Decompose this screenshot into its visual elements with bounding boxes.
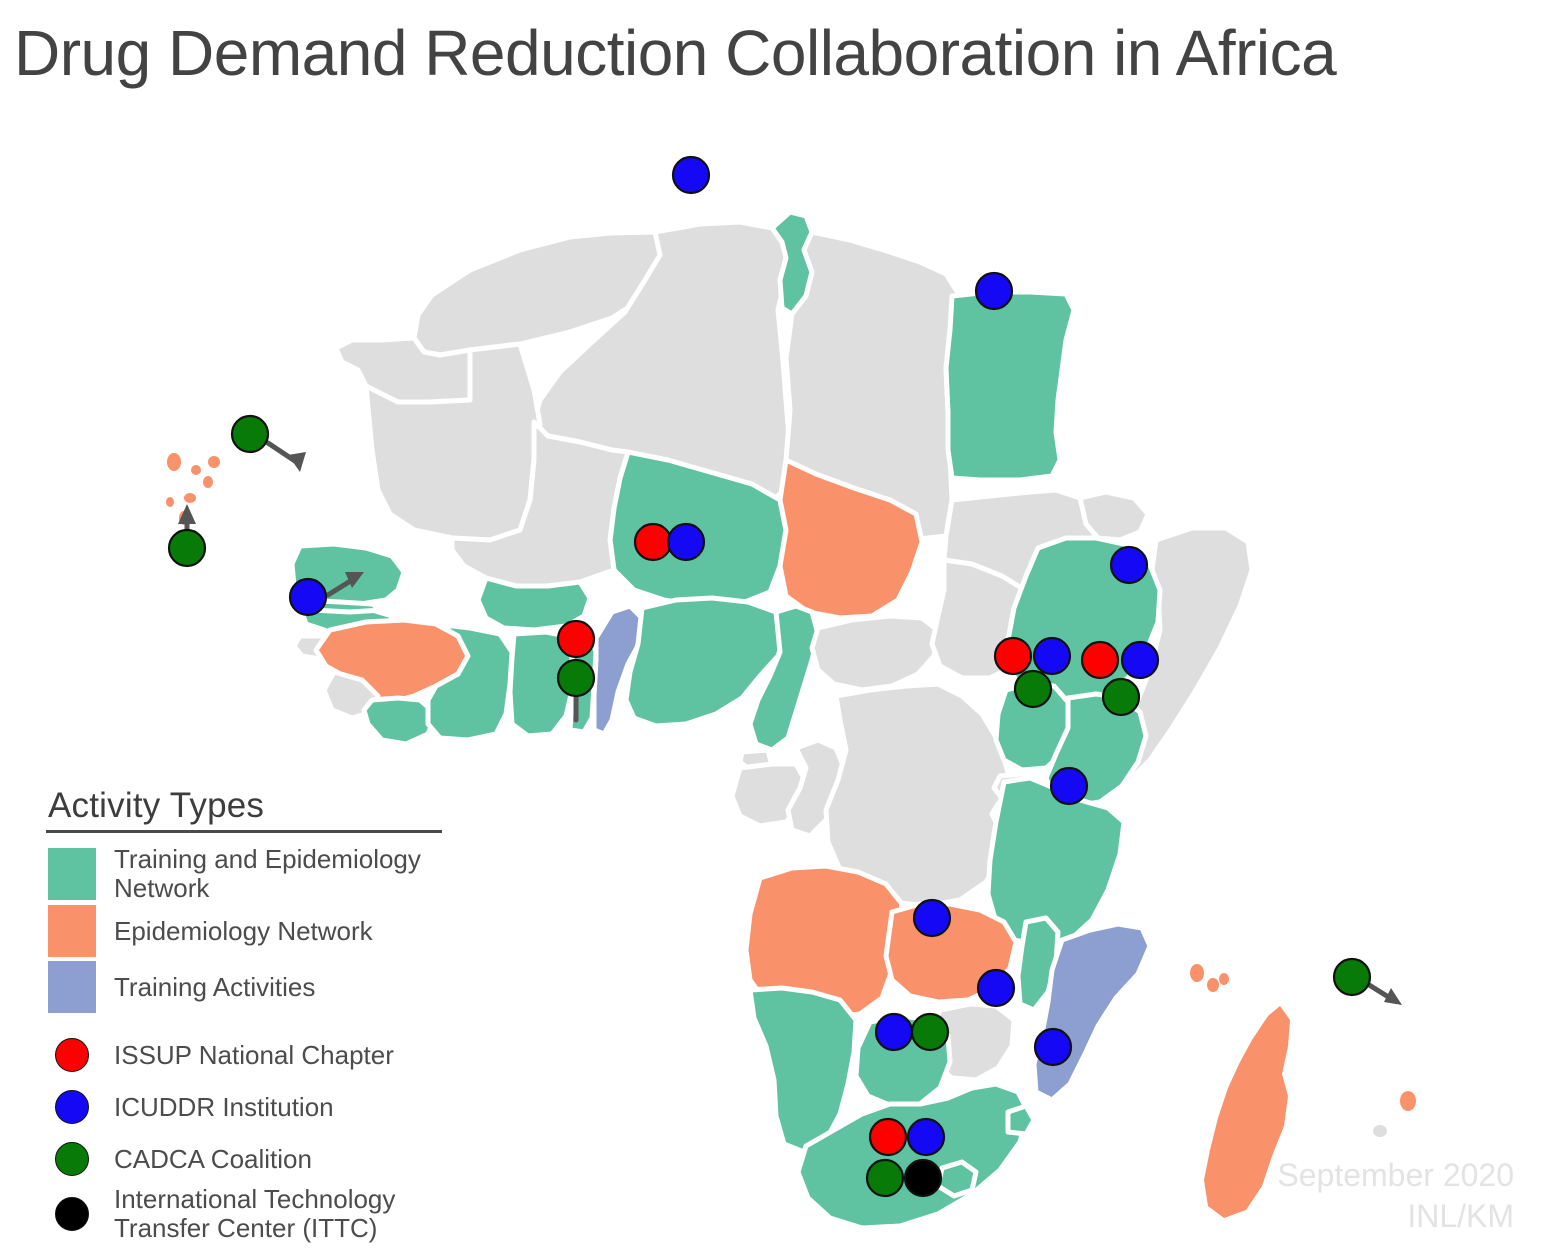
legend-label-cadca-coalition: CADCA Coalition xyxy=(114,1145,312,1174)
country-lesotho[interactable] xyxy=(938,1162,976,1196)
marker-cadca-senegal[interactable] xyxy=(232,416,268,452)
marker-icuddr-sierra-leone[interactable] xyxy=(290,579,326,615)
island-mauritius[interactable] xyxy=(1400,1091,1416,1111)
islands-comoros[interactable] xyxy=(1190,964,1229,992)
watermark-org: INL/KM xyxy=(1277,1196,1514,1236)
country-tanzania[interactable] xyxy=(988,778,1124,946)
marker-icuddr-botswana[interactable] xyxy=(876,1014,912,1050)
legend-label-epidemiology-network: Epidemiology Network xyxy=(114,917,373,946)
marker-cadca-south-africa[interactable] xyxy=(867,1160,903,1196)
marker-cadca-cabo-verde[interactable] xyxy=(169,530,205,566)
marker-icuddr-nigeria[interactable] xyxy=(668,524,704,560)
marker-icuddr-uganda[interactable] xyxy=(1034,638,1070,674)
legend-dot-black-wrap xyxy=(48,1197,96,1231)
marker-icuddr-ethiopia[interactable] xyxy=(1111,547,1147,583)
marker-icuddr-south-africa[interactable] xyxy=(908,1119,944,1155)
icuddr-marker-icon xyxy=(55,1090,89,1124)
marker-icuddr-tanzania[interactable] xyxy=(1051,768,1087,804)
legend-swatch-teal xyxy=(48,848,96,900)
marker-cadca-mauritius[interactable] xyxy=(1334,959,1370,995)
issup-marker-icon xyxy=(55,1038,89,1072)
marker-icuddr-zimbabwe[interactable] xyxy=(978,970,1014,1006)
marker-cadca-uganda[interactable] xyxy=(1015,671,1051,707)
marker-issup-nigeria[interactable] xyxy=(635,524,671,560)
legend-item-epidemiology-network[interactable]: Epidemiology Network xyxy=(40,903,460,959)
marker-issup-south-africa[interactable] xyxy=(870,1119,906,1155)
marker-icuddr-tunisia[interactable] xyxy=(673,157,709,193)
country-central-african-republic[interactable] xyxy=(812,616,940,690)
marker-issup-benin[interactable] xyxy=(558,621,594,657)
pointer-mauritius xyxy=(1366,983,1402,1005)
watermark-date: September 2020 xyxy=(1277,1155,1514,1195)
marker-cadca-botswana[interactable] xyxy=(912,1014,948,1050)
ittc-marker-icon xyxy=(55,1197,89,1231)
legend-dot-red-wrap xyxy=(48,1038,96,1072)
legend-swatch-orange xyxy=(48,905,96,957)
island-reunion[interactable] xyxy=(1373,1125,1387,1137)
country-liberia[interactable] xyxy=(364,698,436,744)
legend-dot-green-wrap xyxy=(48,1142,96,1176)
legend-label-issup-national-chapter: ISSUP National Chapter xyxy=(114,1041,394,1070)
legend-dot-blue-wrap xyxy=(48,1090,96,1124)
marker-icuddr-mozambique[interactable] xyxy=(1035,1029,1071,1065)
marker-icuddr-zambia[interactable] xyxy=(914,900,950,936)
marker-cadca-benin[interactable] xyxy=(558,660,594,696)
watermark: September 2020 INL/KM xyxy=(1277,1155,1514,1236)
legend-heading: Activity Types xyxy=(40,786,460,830)
legend-label-training-and-epidemiology-network: Training and Epidemiology Network xyxy=(114,845,460,903)
legend-item-cadca-coalition[interactable]: CADCA Coalition xyxy=(40,1133,460,1185)
legend-label-training-activities: Training Activities xyxy=(114,973,315,1002)
legend: Activity Types Training and Epidemiology… xyxy=(40,786,460,1243)
marker-issup-uganda[interactable] xyxy=(995,638,1031,674)
pointer-senegal xyxy=(268,443,306,472)
legend-item-training-and-epidemiology-network[interactable]: Training and Epidemiology Network xyxy=(40,845,460,903)
legend-item-ittc[interactable]: International Technology Transfer Center… xyxy=(40,1185,460,1243)
country-eswatini[interactable] xyxy=(1008,1106,1034,1134)
marker-icuddr-egypt[interactable] xyxy=(976,273,1012,309)
marker-cadca-kenya[interactable] xyxy=(1103,679,1139,715)
legend-item-training-activities[interactable]: Training Activities xyxy=(40,959,460,1015)
cadca-marker-icon xyxy=(55,1142,89,1176)
legend-label-icuddr-institution: ICUDDR Institution xyxy=(114,1093,334,1122)
islands-cabo-verde[interactable] xyxy=(166,453,220,525)
legend-divider xyxy=(46,830,442,833)
marker-ittc-south-africa[interactable] xyxy=(905,1160,941,1196)
legend-label-ittc: International Technology Transfer Center… xyxy=(114,1185,460,1243)
legend-item-issup-national-chapter[interactable]: ISSUP National Chapter xyxy=(40,1029,460,1081)
country-egypt[interactable] xyxy=(946,292,1074,480)
legend-item-icuddr-institution[interactable]: ICUDDR Institution xyxy=(40,1081,460,1133)
page-title: Drug Demand Reduction Collaboration in A… xyxy=(14,16,1336,90)
marker-icuddr-kenya[interactable] xyxy=(1122,642,1158,678)
legend-swatch-purple xyxy=(48,961,96,1013)
marker-issup-kenya[interactable] xyxy=(1082,642,1118,678)
